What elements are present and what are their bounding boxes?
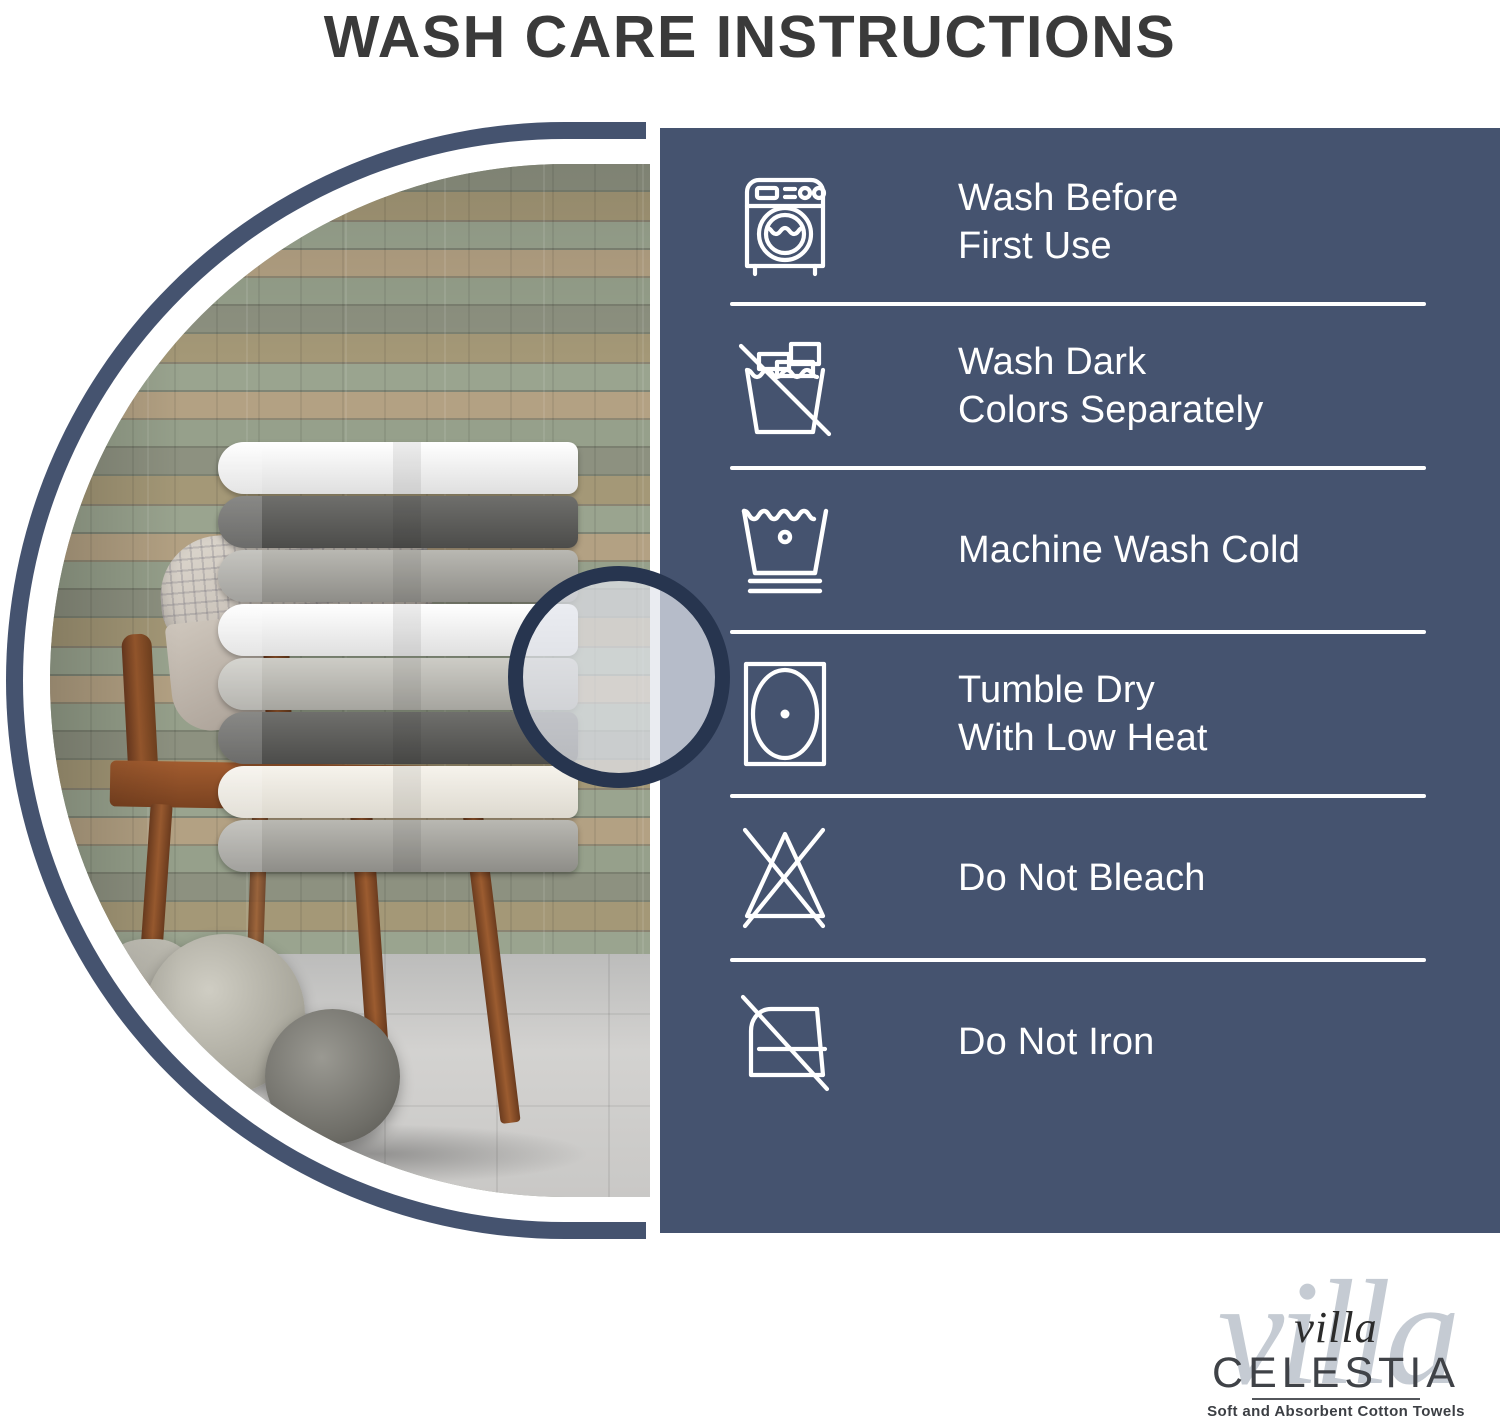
- washing-machine-icon: [730, 165, 840, 280]
- tumble-dry-low-icon: [730, 657, 840, 772]
- instruction-row: Wash Before First Use: [730, 142, 1430, 302]
- wash-tub-cold-icon: [730, 493, 840, 608]
- instruction-row: Do Not Iron: [730, 962, 1430, 1122]
- brand-logo-script: villa: [1186, 1306, 1486, 1350]
- instruction-row: Machine Wash Cold: [730, 470, 1430, 630]
- do-not-iron-icon: [730, 985, 840, 1100]
- brand-logo: villa villa CELESTIA Soft and Absorbent …: [1186, 1264, 1486, 1416]
- page-title: WASH CARE INSTRUCTIONS: [0, 0, 1500, 74]
- instruction-label: Wash Before First Use: [958, 174, 1178, 270]
- instruction-label: Tumble Dry With Low Heat: [958, 666, 1208, 762]
- brand-logo-tagline: Soft and Absorbent Cotton Towels: [1186, 1404, 1486, 1419]
- instruction-row: Wash Dark Colors Separately: [730, 306, 1430, 466]
- instruction-label: Do Not Iron: [958, 1018, 1155, 1066]
- brand-logo-name: CELESTIA: [1186, 1352, 1486, 1395]
- instruction-row: Tumble Dry With Low Heat: [730, 634, 1430, 794]
- instruction-label: Machine Wash Cold: [958, 526, 1300, 574]
- brand-logo-rule: [1252, 1398, 1420, 1400]
- laundry-basket-crossed-icon: [730, 329, 840, 444]
- instruction-label: Do Not Bleach: [958, 854, 1206, 902]
- instruction-list: Wash Before First Use Wash Dark Colors S…: [730, 142, 1430, 1122]
- wash-care-infographic: WASH CARE INSTRUCTIONS: [0, 0, 1500, 1419]
- magnifier-circle: [508, 566, 730, 788]
- instruction-row: Do Not Bleach: [730, 798, 1430, 958]
- instruction-label: Wash Dark Colors Separately: [958, 338, 1263, 434]
- do-not-bleach-icon: [730, 821, 840, 936]
